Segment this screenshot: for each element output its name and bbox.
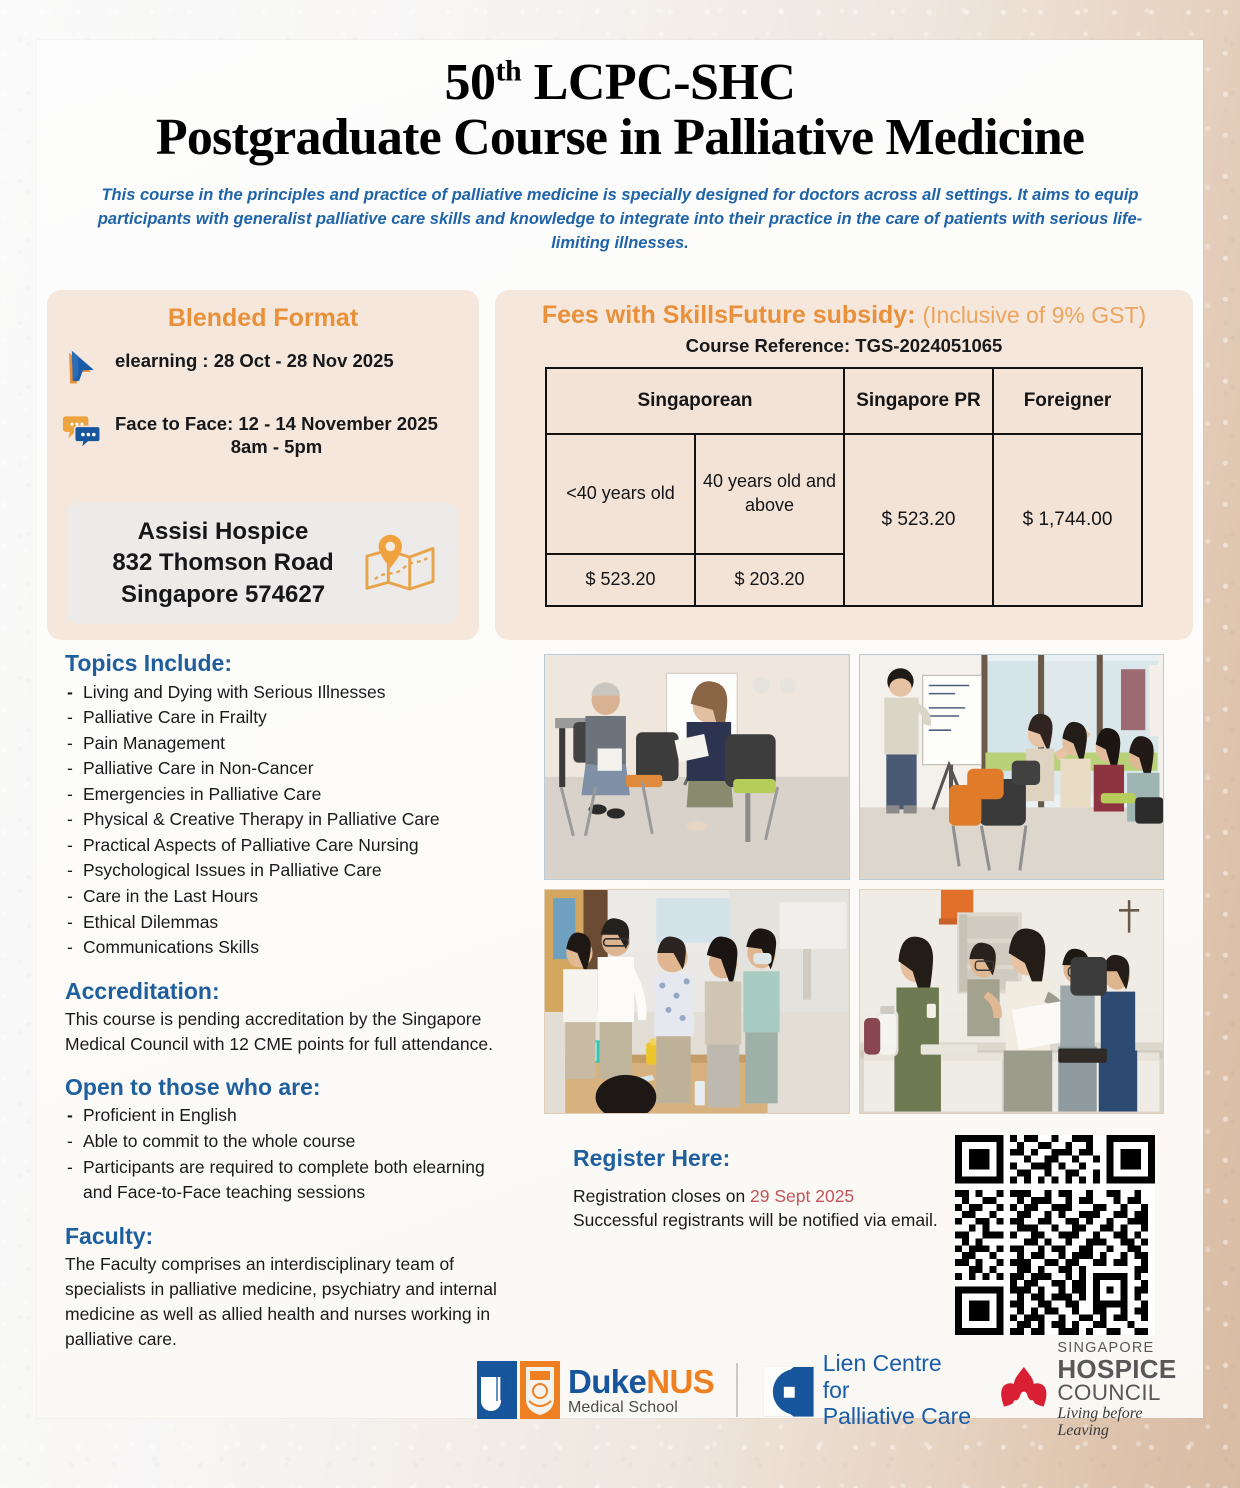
duke-shield-icon (477, 1361, 517, 1419)
venue-postal: Singapore 574627 (85, 579, 361, 610)
course-acronym: LCPC-SHC (521, 54, 795, 111)
venue-street: 832 Thomson Road (85, 547, 361, 578)
list-item: Pain Management (65, 731, 513, 757)
list-item: Psychological Issues in Palliative Care (65, 858, 513, 884)
list-item: Practical Aspects of Palliative Care Nur… (65, 833, 513, 859)
list-item: Proficient in English (65, 1103, 513, 1129)
photo-small-group-discussion (859, 889, 1165, 1115)
open-to-heading: Open to those who are: (65, 1074, 513, 1102)
duke-nus-logo: DukeNUS Medical School (477, 1361, 714, 1419)
speech-bubbles-icon (61, 408, 105, 455)
column-header-foreigner: Foreigner (993, 368, 1142, 434)
list-item: Palliative Care in Non-Cancer (65, 756, 513, 782)
fees-panel: Fees with SkillsFuture subsidy: (Inclusi… (495, 290, 1193, 640)
fees-heading: Fees with SkillsFuture subsidy: (Inclusi… (495, 290, 1193, 330)
price-singaporean-40-above: $ 203.20 (695, 554, 844, 606)
price-pr: $ 523.20 (844, 434, 993, 606)
register-details: Registration closes on 29 Sept 2025 Succ… (573, 1184, 973, 1232)
topics-list: Living and Dying with Serious Illnesses … (65, 680, 513, 961)
venue-address: Assisi Hospice 832 Thomson Road Singapor… (85, 516, 361, 610)
age-band-40-and-above: 40 years old and above (695, 434, 844, 554)
column-header-pr: Singapore PR (844, 368, 993, 434)
shc-tagline: Living before Leaving (1057, 1406, 1197, 1439)
face-to-face-dates: Face to Face: 12 - 14 November 2025 8am … (115, 408, 438, 459)
fees-table: Singaporean Singapore PR Foreigner <40 y… (545, 367, 1143, 607)
lien-centre-wordmark: Lien Centre for Palliative Care (823, 1350, 974, 1430)
elearning-dates: elearning : 28 Oct - 28 Nov 2025 (115, 345, 394, 372)
nus-word: NUS (646, 1363, 714, 1400)
list-item: Physical & Creative Therapy in Palliativ… (65, 807, 513, 833)
partner-logos: DukeNUS Medical School Lien Centre for P… (477, 1340, 1197, 1440)
title-block: 50th LCPC-SHC Postgraduate Course in Pal… (37, 40, 1203, 255)
registration-close-date: 29 Sept 2025 (750, 1186, 854, 1206)
duke-nus-subtitle: Medical School (568, 1400, 714, 1416)
photo-flipchart-presentation (859, 654, 1165, 880)
list-item: Ethical Dilemmas (65, 910, 513, 936)
top-panels: Blended Format elearning : 28 Oct - 28 N… (47, 290, 1193, 640)
elearning-row: elearning : 28 Oct - 28 Nov 2025 (47, 345, 479, 396)
price-foreigner: $ 1,744.00 (993, 434, 1142, 606)
register-heading: Register Here: (573, 1145, 973, 1172)
venue-name: Assisi Hospice (85, 516, 361, 547)
poster-card: 50th LCPC-SHC Postgraduate Course in Pal… (37, 40, 1203, 1418)
edition-ordinal-suffix: th (496, 55, 522, 88)
faculty-heading: Faculty: (65, 1223, 513, 1251)
blended-format-panel: Blended Format elearning : 28 Oct - 28 N… (47, 290, 479, 640)
column-header-singaporean: Singaporean (546, 368, 844, 434)
face-to-face-dates-line1: Face to Face: 12 - 14 November 2025 (115, 413, 438, 434)
face-to-face-row: Face to Face: 12 - 14 November 2025 8am … (47, 408, 479, 459)
lien-centre-logo: Lien Centre for Palliative Care (760, 1350, 974, 1430)
open-to-list: Proficient in English Able to commit to … (65, 1103, 513, 1205)
price-singaporean-under-40: $ 523.20 (546, 554, 695, 606)
logo-divider (736, 1363, 738, 1417)
lien-centre-line2: Palliative Care (823, 1403, 974, 1430)
list-item: Emergencies in Palliative Care (65, 782, 513, 808)
photo-bedside-demonstration (544, 889, 850, 1115)
lien-centre-line1: Lien Centre for (823, 1350, 974, 1403)
duke-nus-wordmark: DukeNUS Medical School (568, 1365, 714, 1416)
page-subtitle: This course in the principles and practi… (70, 183, 1170, 255)
lien-centre-mark-icon (760, 1363, 814, 1417)
nus-shield-icon (520, 1361, 560, 1419)
table-row: <40 years old 40 years old and above $ 5… (546, 434, 1142, 554)
photo-classroom-pair-reading (544, 654, 850, 880)
list-item: Communications Skills (65, 935, 513, 961)
page-title-line1: 50th LCPC-SHC (37, 56, 1203, 111)
singapore-hospice-council-logo: SINGAPORE HOSPICE COUNCIL Living before … (998, 1341, 1197, 1439)
page-title-line2: Postgraduate Course in Palliative Medici… (37, 109, 1203, 167)
age-band-under-40: <40 years old (546, 434, 695, 554)
duke-word: Duke (568, 1363, 646, 1400)
registration-notification-note: Successful registrants will be notified … (573, 1210, 938, 1230)
register-block: Register Here: Registration closes on 29… (573, 1145, 973, 1232)
registration-closes-label: Registration closes on (573, 1186, 750, 1206)
qr-code-icon[interactable] (955, 1135, 1155, 1335)
fees-heading-main: Fees with SkillsFuture subsidy: (542, 301, 916, 329)
list-item: Participants are required to complete bo… (65, 1155, 513, 1206)
hospice-council-wordmark: SINGAPORE HOSPICE COUNCIL Living before … (1057, 1341, 1197, 1439)
blended-format-heading: Blended Format (47, 290, 479, 333)
duke-nus-shield-marks (477, 1361, 560, 1419)
edition-number: 50 (445, 54, 496, 111)
accreditation-body: This course is pending accreditation by … (65, 1007, 513, 1057)
fees-gst-note: (Inclusive of 9% GST) (922, 302, 1146, 328)
map-pin-icon (361, 527, 439, 600)
shc-line-council: COUNCIL (1057, 1382, 1197, 1405)
left-content-column: Topics Include: Living and Dying with Se… (65, 650, 513, 1352)
shc-line-hospice: HOSPICE (1057, 1356, 1197, 1383)
photo-gallery (544, 654, 1164, 1114)
accreditation-heading: Accreditation: (65, 978, 513, 1006)
cursor-click-icon (61, 345, 105, 396)
course-reference: Course Reference: TGS-2024051065 (495, 335, 1193, 357)
faculty-body: The Faculty comprises an interdisciplina… (65, 1252, 513, 1351)
list-item: Palliative Care in Frailty (65, 705, 513, 731)
topics-heading: Topics Include: (65, 650, 513, 678)
hospice-council-petals-icon (998, 1365, 1050, 1415)
list-item: Able to commit to the whole course (65, 1129, 513, 1155)
venue-box: Assisi Hospice 832 Thomson Road Singapor… (67, 502, 457, 624)
list-item: Care in the Last Hours (65, 884, 513, 910)
list-item: Living and Dying with Serious Illnesses (65, 680, 513, 706)
face-to-face-time: 8am - 5pm (115, 435, 438, 458)
table-header-row: Singaporean Singapore PR Foreigner (546, 368, 1142, 434)
